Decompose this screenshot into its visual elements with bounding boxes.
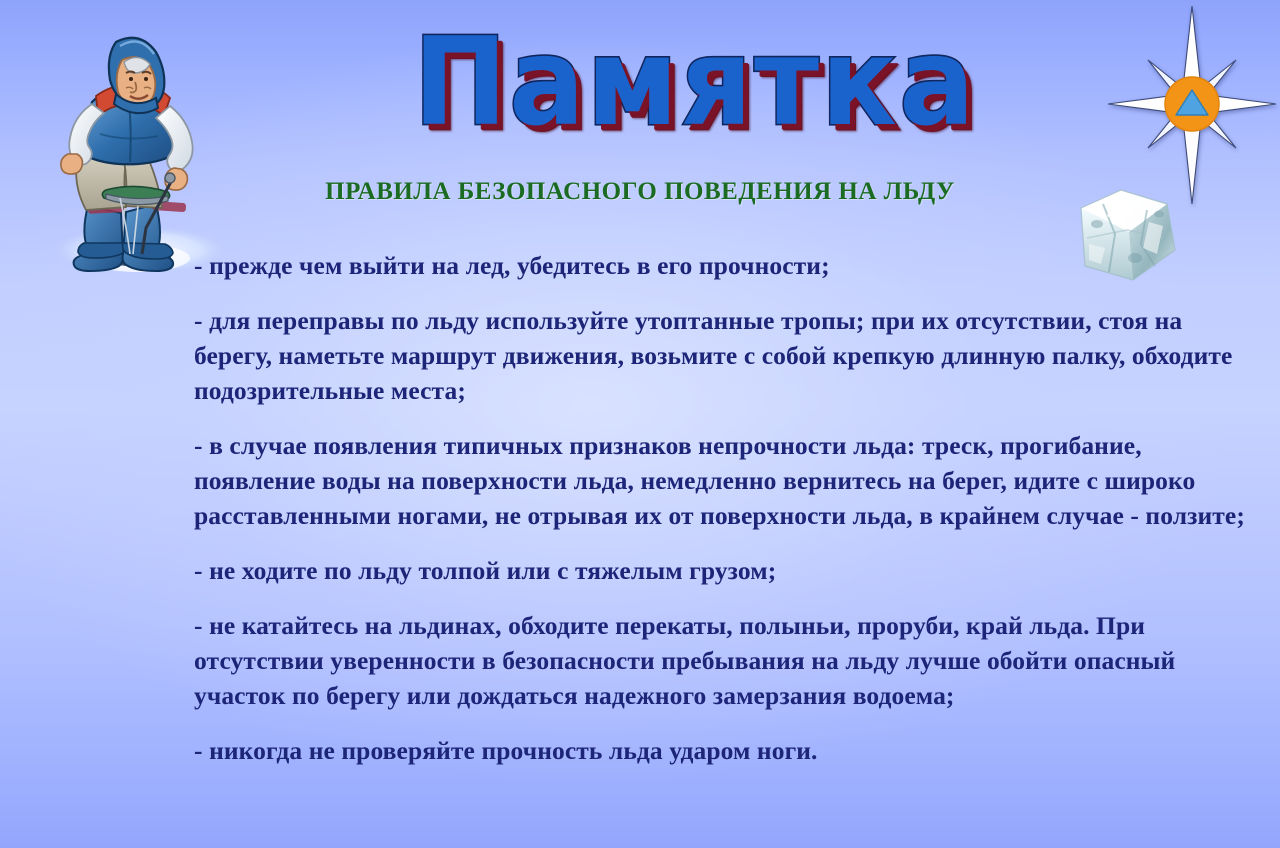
rule-item: - никогда не проверяйте прочность льда у… [194, 733, 1252, 768]
emercom-star-emblem [1108, 4, 1276, 204]
poster-title-container: Памятка [280, 14, 1110, 154]
page-title: Памятка [280, 14, 1110, 152]
rule-item: - прежде чем выйти на лед, убедитесь в е… [194, 248, 1252, 283]
rule-item: - не катайтесь на льдинах, обходите пере… [194, 608, 1252, 713]
rule-item: - в случае появления типичных признаков … [194, 428, 1252, 533]
rule-item: - не ходите по льду толпой или с тяжелым… [194, 553, 1252, 588]
rule-item: - для переправы по льду используйте утоп… [194, 303, 1252, 408]
ice-fisherman-illustration [30, 28, 245, 283]
poster-canvas: Памятка ПРАВИЛА БЕЗОПА [0, 0, 1280, 848]
safety-rules-list: - прежде чем выйти на лед, убедитесь в е… [194, 248, 1252, 768]
